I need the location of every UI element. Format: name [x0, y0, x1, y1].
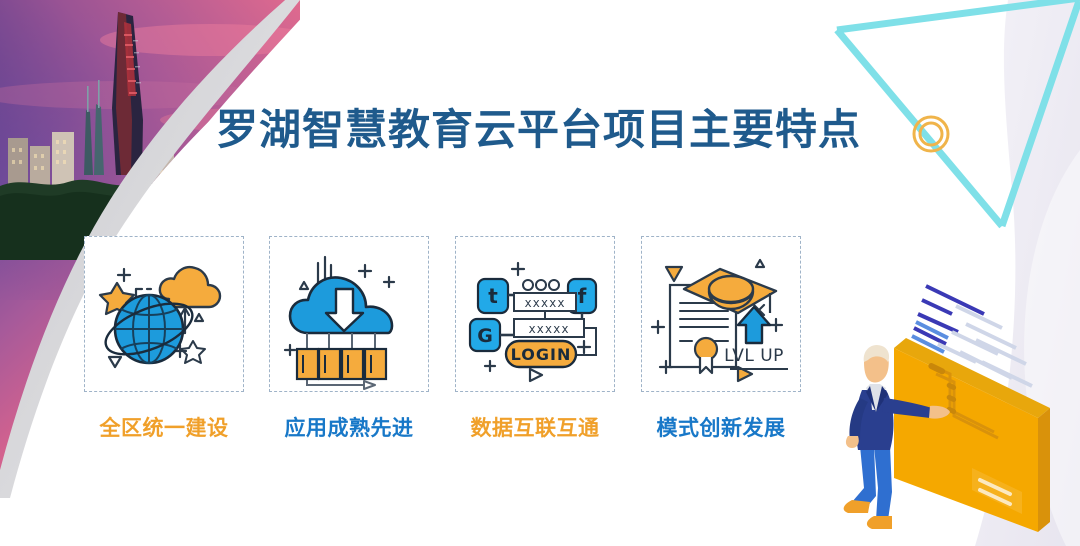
- gold-ring-icon: [914, 117, 948, 151]
- slide-canvas: 罗湖智慧教育云平台项目主要特点: [0, 0, 1080, 546]
- folder-graphic: [894, 338, 1050, 532]
- feature-card-group: t f G xxxxx xxxxx: [84, 236, 820, 466]
- svg-text:f: f: [578, 284, 587, 308]
- svg-text:G: G: [477, 325, 493, 347]
- cloud-download-servers-icon: [270, 237, 428, 391]
- feature-card-1[interactable]: [84, 236, 244, 392]
- svg-text:t: t: [488, 284, 498, 308]
- svg-text:xxxxx: xxxxx: [524, 296, 565, 310]
- feature-card-4[interactable]: LVL UP: [641, 236, 801, 392]
- svg-text:LVL UP: LVL UP: [724, 346, 784, 366]
- feature-label-2: 应用成熟先进: [259, 412, 439, 442]
- feature-label-4: 模式创新发展: [631, 412, 811, 442]
- login-form-icon: t f G xxxxx xxxxx: [456, 237, 614, 391]
- person-pointing-at-folder-illustration: [826, 270, 1080, 546]
- feature-card-2[interactable]: [269, 236, 429, 392]
- feature-label-1: 全区统一建设: [74, 412, 254, 442]
- svg-text:LOGIN: LOGIN: [511, 345, 572, 364]
- page-title: 罗湖智慧教育云平台项目主要特点: [216, 96, 861, 157]
- globe-cloud-icon: [85, 237, 243, 391]
- svg-text:xxxxx: xxxxx: [528, 322, 569, 336]
- graduation-certificate-icon: LVL UP: [642, 237, 800, 391]
- feature-card-3[interactable]: t f G xxxxx xxxxx: [455, 236, 615, 392]
- feature-label-3: 数据互联互通: [445, 412, 625, 442]
